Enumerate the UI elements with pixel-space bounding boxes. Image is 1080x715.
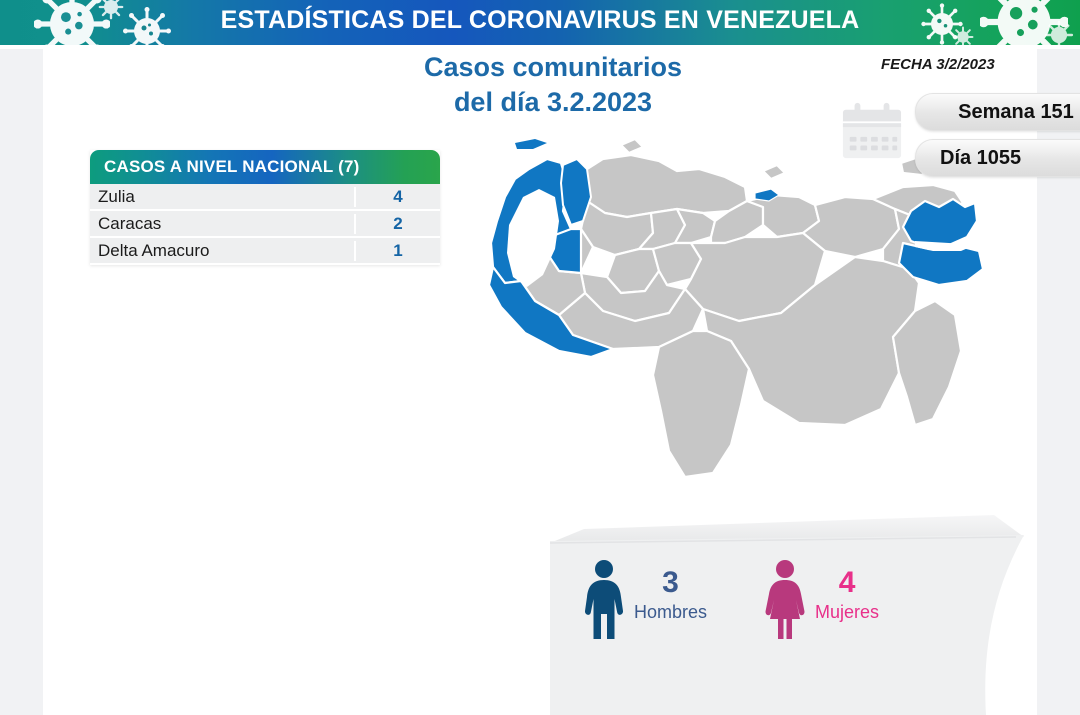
page-title-line2: del día 3.2.2023 bbox=[343, 85, 763, 120]
week-badge: Semana 151 bbox=[915, 93, 1080, 131]
female-figure-icon bbox=[765, 559, 805, 641]
map-state-falcon bbox=[581, 155, 747, 217]
header-banner: ESTADÍSTICAS DEL CORONAVIRUS EN VENEZUEL… bbox=[0, 0, 1080, 45]
state-count: 1 bbox=[354, 241, 440, 261]
banner-underline bbox=[0, 45, 1080, 49]
state-count: 2 bbox=[354, 214, 440, 234]
fecha-label: FECHA 3/2/2023 bbox=[881, 56, 995, 73]
state-name: Caracas bbox=[90, 214, 354, 234]
page-background: ESTADÍSTICAS DEL CORONAVIRUS EN VENEZUEL… bbox=[0, 0, 1080, 715]
page-title-line1: Casos comunitarios bbox=[343, 50, 763, 85]
national-cases-table: CASOS A NIVEL NACIONAL (7) Zulia 4 Carac… bbox=[90, 150, 440, 265]
gender-panel: 3 Hombres 4 bbox=[524, 497, 1044, 715]
day-badge: Día 1055 bbox=[915, 139, 1080, 177]
map-island-north bbox=[621, 139, 643, 153]
map-zulia-island bbox=[515, 139, 547, 149]
gender-stats: 3 Hombres 4 bbox=[584, 559, 879, 641]
state-count: 4 bbox=[354, 187, 440, 207]
map-island-north2 bbox=[763, 165, 785, 179]
female-count: 4 bbox=[815, 567, 879, 599]
day-badge-label: Día 1055 bbox=[940, 147, 1021, 170]
map-state-amazonas bbox=[653, 331, 749, 477]
header-title: ESTADÍSTICAS DEL CORONAVIRUS EN VENEZUEL… bbox=[0, 6, 1080, 35]
female-stat-group: 4 Mujeres bbox=[765, 559, 879, 641]
week-badge-label: Semana 151 bbox=[958, 101, 1074, 124]
table-row: Delta Amacuro 1 bbox=[90, 238, 440, 265]
page-title: Casos comunitarios del día 3.2.2023 bbox=[343, 50, 763, 119]
table-row: Caracas 2 bbox=[90, 211, 440, 238]
table-header: CASOS A NIVEL NACIONAL (7) bbox=[90, 150, 440, 184]
state-name: Delta Amacuro bbox=[90, 241, 354, 261]
male-label: Hombres bbox=[634, 599, 707, 626]
table-row: Zulia 4 bbox=[90, 184, 440, 211]
female-stat-text: 4 Mujeres bbox=[815, 559, 879, 626]
male-figure-icon bbox=[584, 559, 624, 641]
male-stat-group: 3 Hombres bbox=[584, 559, 707, 641]
venezuela-map bbox=[463, 125, 983, 515]
male-stat-text: 3 Hombres bbox=[634, 559, 707, 626]
state-name: Zulia bbox=[90, 187, 354, 207]
male-count: 3 bbox=[634, 567, 707, 599]
female-label: Mujeres bbox=[815, 599, 879, 626]
infographic-content: ESTADÍSTICAS DEL CORONAVIRUS EN VENEZUEL… bbox=[43, 0, 1037, 715]
